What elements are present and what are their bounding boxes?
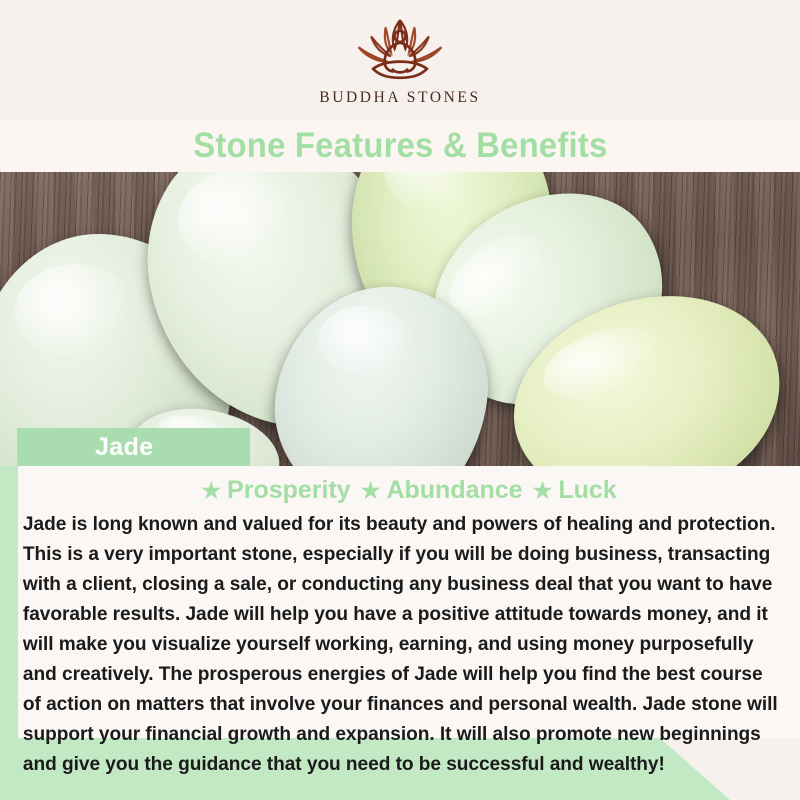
content-panel: ★ Prosperity ★ Abundance ★ Luck Jade is … — [18, 466, 800, 738]
stone-photo — [0, 172, 800, 466]
benefit-item-luck: ★ Luck — [533, 476, 617, 505]
star-icon: ★ — [201, 480, 221, 502]
benefit-label: Prosperity — [227, 476, 351, 505]
benefit-label: Luck — [558, 476, 616, 505]
accent-triangle-bottom-left — [0, 770, 20, 800]
benefit-label: Abundance — [386, 476, 522, 505]
star-icon: ★ — [361, 480, 381, 502]
benefit-item-abundance: ★ Abundance — [361, 476, 523, 505]
stone-name-banner: Jade — [17, 428, 250, 466]
stone-name: Jade — [95, 433, 154, 462]
stone-description: Jade is long known and valued for its be… — [18, 509, 788, 779]
page-title: Stone Features & Benefits — [193, 126, 607, 166]
brand-header: BUDDHA STONES — [0, 0, 800, 120]
infographic-card: BUDDHA STONES Stone Features & Benefits … — [0, 0, 800, 800]
lotus-meditation-icon — [346, 13, 454, 85]
title-banner: Stone Features & Benefits — [0, 120, 800, 172]
brand-name: BUDDHA STONES — [319, 89, 480, 107]
benefit-item-prosperity: ★ Prosperity — [201, 476, 350, 505]
star-icon: ★ — [533, 480, 553, 502]
benefits-row: ★ Prosperity ★ Abundance ★ Luck — [18, 466, 800, 505]
